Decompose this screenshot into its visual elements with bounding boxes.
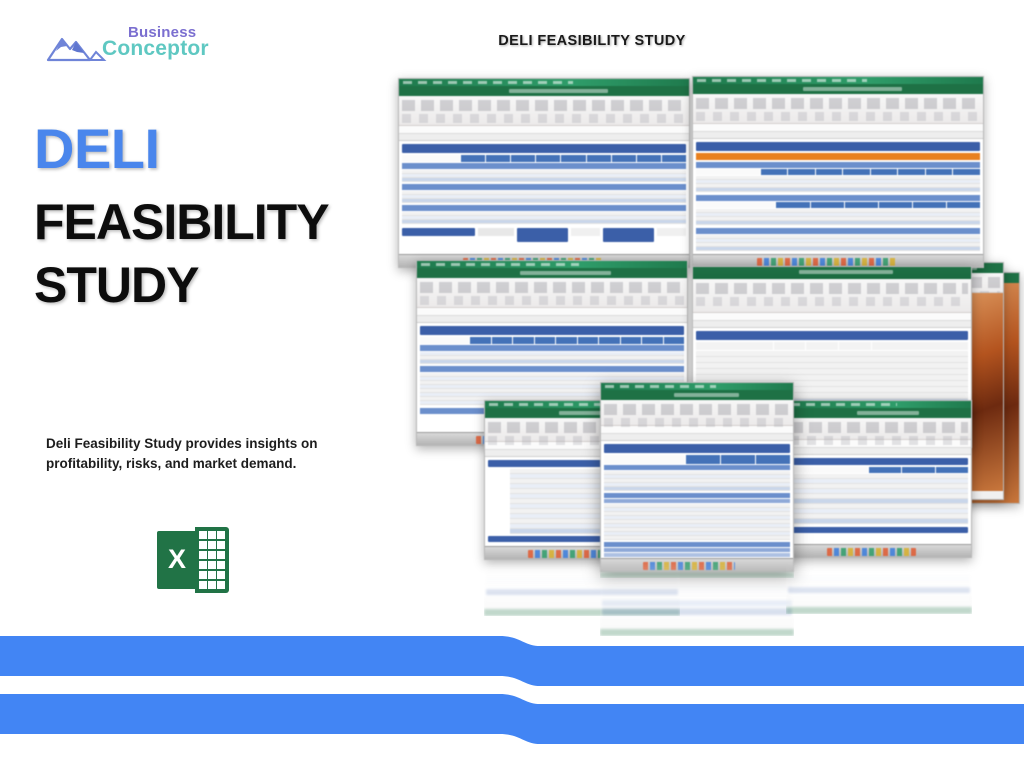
- worksheet-area[interactable]: [693, 139, 983, 258]
- sheet-title-bar: [696, 331, 968, 340]
- excel-icon-letter: [157, 531, 197, 589]
- sheet-title-bar: [420, 326, 684, 335]
- table-rows: [402, 170, 686, 182]
- formula-bar[interactable]: [399, 126, 689, 134]
- window-ribbon[interactable]: [399, 96, 689, 126]
- window-front-center[interactable]: [600, 382, 794, 572]
- worksheet-area[interactable]: [601, 441, 793, 565]
- window-back-left[interactable]: [398, 78, 690, 268]
- window-reflection-right: [786, 562, 972, 614]
- column-headers: [399, 134, 689, 141]
- worksheet-area[interactable]: [787, 455, 971, 551]
- table-subheader: [402, 163, 686, 169]
- hero-title-line-2: FEASIBILITY: [34, 197, 386, 248]
- sheet-title-bar: [604, 444, 790, 453]
- window-front-right[interactable]: [786, 400, 972, 558]
- window-menubar: [399, 79, 689, 86]
- hero-title-line-1: DELI: [34, 120, 386, 177]
- highlight-band: [696, 153, 980, 160]
- worksheet-area[interactable]: [399, 141, 689, 258]
- window-titlebar: [399, 86, 689, 96]
- window-reflection-top: [600, 558, 794, 578]
- wave-band-lower: [0, 694, 1024, 744]
- window-back-right[interactable]: [692, 76, 984, 268]
- page-header-title: DELI FEASIBILITY STUDY: [0, 33, 1024, 49]
- hero-title-line-3: STUDY: [34, 260, 386, 311]
- decorative-wave-bands: [0, 608, 1024, 768]
- sheet-title-bar: [790, 458, 968, 465]
- spreadsheet-collage: [380, 62, 1024, 622]
- window-ribbon-tabs[interactable]: [693, 279, 971, 313]
- hero-subtitle: Deli Feasibility Study provides insights…: [46, 434, 366, 473]
- excel-icon-grid: [195, 527, 229, 593]
- wave-band-upper: [0, 636, 1024, 686]
- microsoft-excel-icon: [157, 527, 229, 593]
- sheet-title-bar: [696, 142, 980, 151]
- hero-text-block: DELI FEASIBILITY STUDY: [34, 120, 386, 311]
- sheet-title-bar: [402, 144, 686, 153]
